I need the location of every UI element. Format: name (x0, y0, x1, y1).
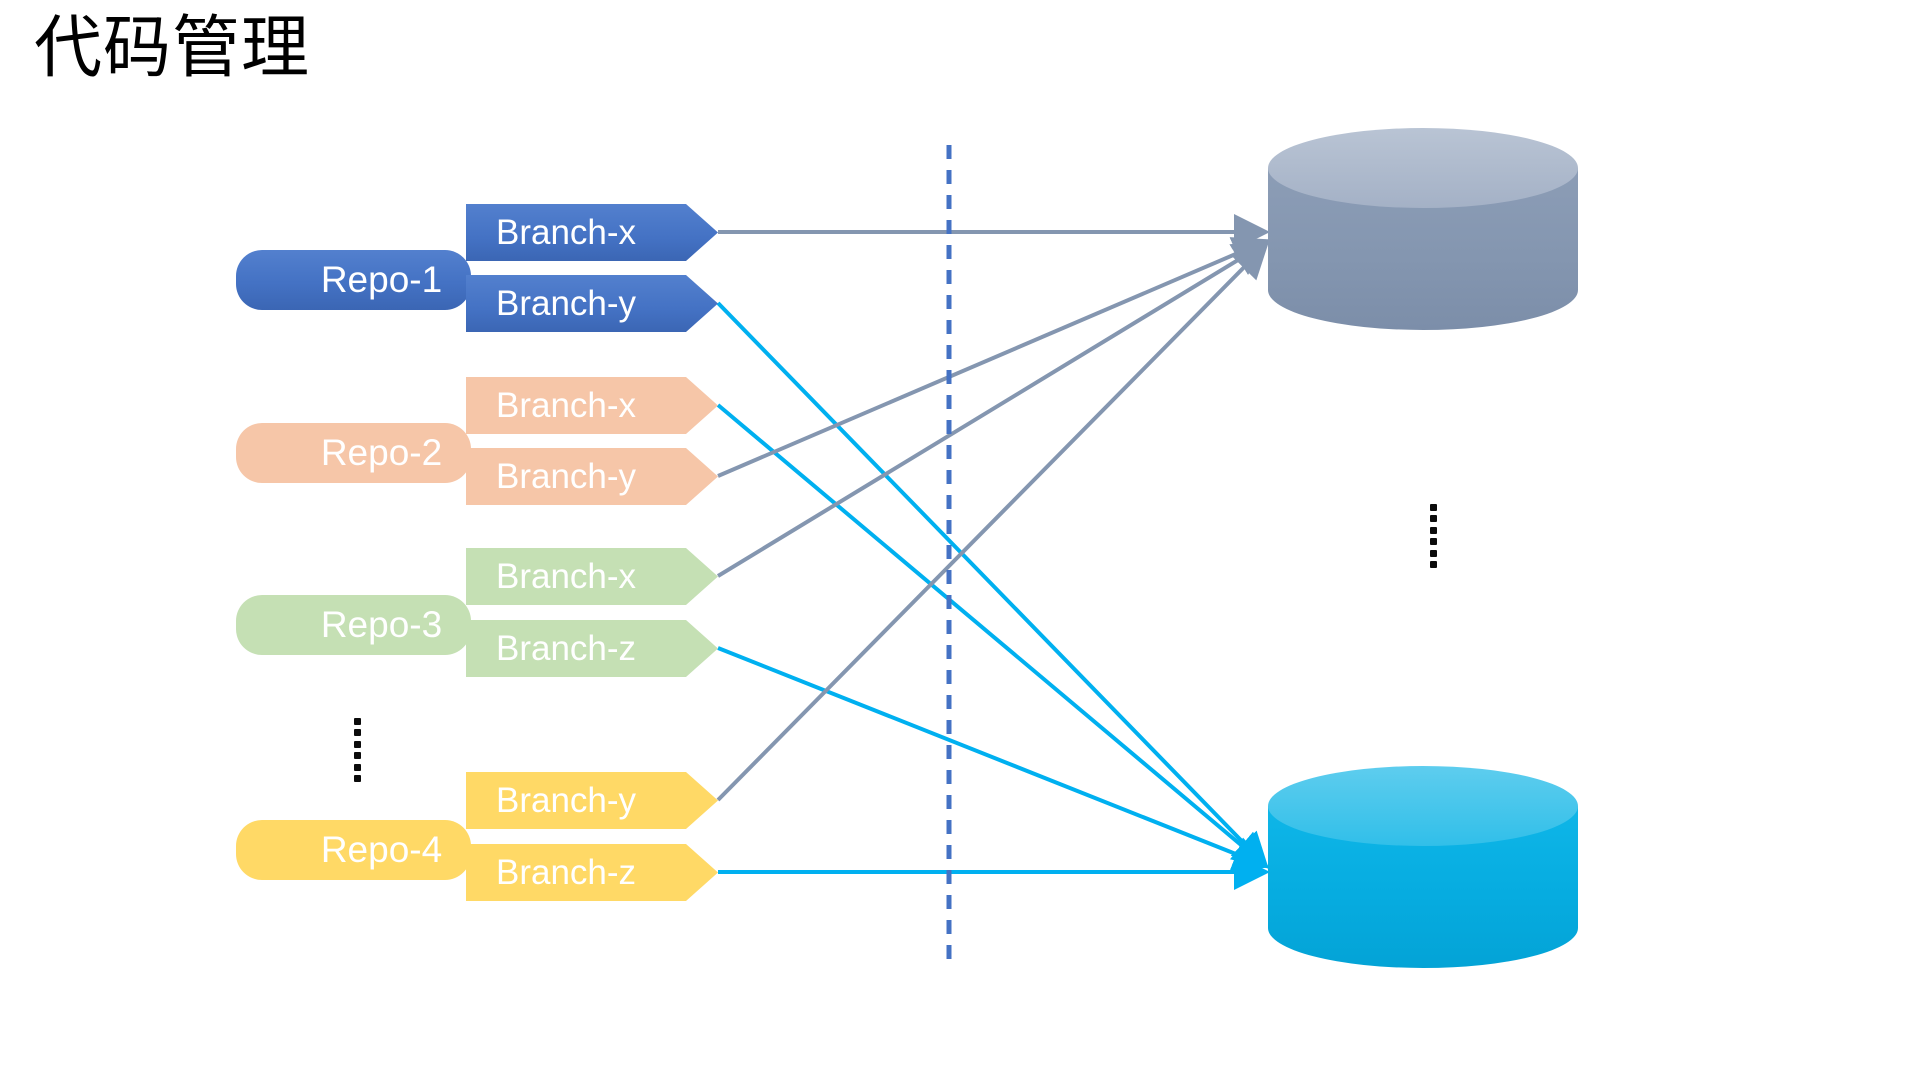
repo-list-ellipsis (352, 718, 362, 782)
branch-node-repo4-branch-z[interactable]: Branch-z (466, 844, 718, 901)
ellipsis-dot (354, 764, 361, 771)
branch-label: Branch-z (496, 629, 636, 669)
ellipsis-dot (354, 729, 361, 736)
ellipsis-dot (1430, 527, 1437, 534)
repo-node-repo-1[interactable]: Repo-1 (236, 250, 471, 310)
branch-node-repo2-branch-x[interactable]: Branch-x (466, 377, 718, 434)
ellipsis-dot (1430, 538, 1437, 545)
branch-node-repo3-branch-z[interactable]: Branch-z (466, 620, 718, 677)
branch-label: Branch-y (496, 284, 636, 324)
ellipsis-dot (354, 741, 361, 748)
slide-canvas: 代码管理 (0, 0, 1919, 1079)
repo-node-repo-3[interactable]: Repo-3 (236, 595, 471, 655)
branch-label: Branch-z (496, 853, 636, 893)
branch-node-repo4-branch-y[interactable]: Branch-y (466, 772, 718, 829)
branch-label: Branch-y (496, 781, 636, 821)
repo-4-label: Repo-4 (321, 829, 442, 871)
ellipsis-dot (1430, 504, 1437, 511)
repo-1-label: Repo-1 (321, 259, 442, 301)
repo-3-label: Repo-3 (321, 604, 442, 646)
repo-2-label: Repo-2 (321, 432, 442, 474)
ellipsis-dot (1430, 561, 1437, 568)
ellipsis-dot (1430, 515, 1437, 522)
branch-node-repo1-branch-y[interactable]: Branch-y (466, 275, 718, 332)
ellipsis-dot (354, 775, 361, 782)
repo-node-repo-4[interactable]: Repo-4 (236, 820, 471, 880)
branch-node-repo3-branch-x[interactable]: Branch-x (466, 548, 718, 605)
ellipsis-dot (1430, 550, 1437, 557)
cylinder-layer (0, 0, 1919, 1079)
cylinder-b-top (1268, 766, 1578, 846)
cylinder-a[interactable] (1268, 128, 1578, 330)
branch-node-repo1-branch-x[interactable]: Branch-x (466, 204, 718, 261)
branch-label: Branch-y (496, 457, 636, 497)
repo-node-repo-2[interactable]: Repo-2 (236, 423, 471, 483)
cylinder-a-top (1268, 128, 1578, 208)
branch-label: Branch-x (496, 213, 636, 253)
ellipsis-dot (354, 718, 361, 725)
branch-node-repo2-branch-y[interactable]: Branch-y (466, 448, 718, 505)
branch-label: Branch-x (496, 386, 636, 426)
ellipsis-dot (354, 752, 361, 759)
branch-label: Branch-x (496, 557, 636, 597)
cylinder-b[interactable] (1268, 766, 1578, 968)
cylinder-list-ellipsis (1428, 504, 1438, 568)
